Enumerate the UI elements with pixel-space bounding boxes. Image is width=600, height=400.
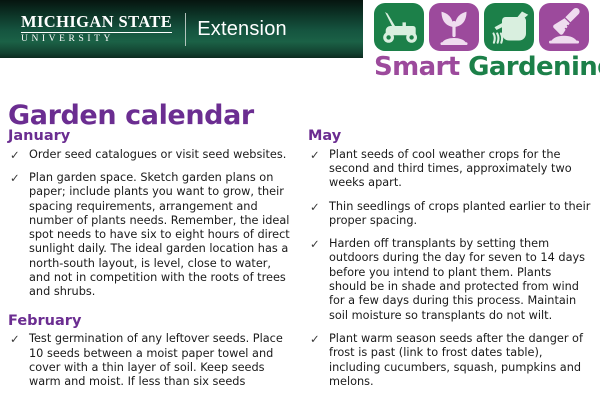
checkmark-icon: ✓ xyxy=(310,200,320,214)
calendar-columns: January✓Order seed catalogues or visit s… xyxy=(0,128,600,400)
task-list-february: ✓Test germination of any leftover seeds.… xyxy=(8,332,291,389)
seedling-icon xyxy=(429,3,479,51)
task-item: ✓Thin seedlings of crops planted earlier… xyxy=(308,200,591,229)
task-list-may: ✓Plant seeds of cool weather crops for t… xyxy=(308,148,591,389)
msu-unit-name: Extension xyxy=(197,19,287,39)
lawn-mower-tile xyxy=(374,3,424,51)
task-item: ✓Harden off transplants by setting them … xyxy=(308,237,591,323)
smart-gardening-word-gardening: Gardening xyxy=(468,52,600,82)
checkmark-icon: ✓ xyxy=(10,332,20,346)
checkmark-icon: ✓ xyxy=(310,332,320,346)
page-title: Garden calendar xyxy=(8,102,254,129)
msu-wordmark-line2: UNIVERSITY xyxy=(21,33,172,45)
month-heading-february: February xyxy=(8,313,291,330)
task-item: ✓Order seed catalogues or visit seed web… xyxy=(8,148,291,162)
msu-logo-divider xyxy=(185,13,186,46)
task-text: Test germination of any leftover seeds. … xyxy=(29,332,283,388)
task-text: Plan garden space. Sketch garden plans o… xyxy=(29,171,290,298)
lawn-mower-icon xyxy=(374,3,424,51)
smart-gardening-logo: Smart Gardening xyxy=(374,3,596,81)
task-text: Thin seedlings of crops planted earlier … xyxy=(329,200,590,227)
checkmark-icon: ✓ xyxy=(10,148,20,162)
seedling-tile xyxy=(429,3,479,51)
month-heading-january: January xyxy=(8,128,291,145)
checkmark-icon: ✓ xyxy=(310,237,320,251)
calendar-column-left: January✓Order seed catalogues or visit s… xyxy=(8,128,291,390)
watering-can-tile xyxy=(484,3,534,51)
checkmark-icon: ✓ xyxy=(310,148,320,162)
task-item: ✓Plant seeds of cool weather crops for t… xyxy=(308,148,591,191)
task-text: Plant warm season seeds after the danger… xyxy=(329,332,583,388)
calendar-column-right: May✓Plant seeds of cool weather crops fo… xyxy=(308,128,591,389)
msu-wordmark: MICHIGAN STATE UNIVERSITY xyxy=(21,14,172,44)
trowel-tile xyxy=(539,3,589,51)
task-item: ✓Plan garden space. Sketch garden plans … xyxy=(8,171,291,300)
task-text: Harden off transplants by setting them o… xyxy=(329,237,585,321)
checkmark-icon: ✓ xyxy=(10,171,20,185)
smart-gardening-wordmark: Smart Gardening xyxy=(374,54,596,81)
task-item: ✓Plant warm season seeds after the dange… xyxy=(308,332,591,389)
msu-logo: MICHIGAN STATE UNIVERSITY Extension xyxy=(21,11,287,47)
page-header: MICHIGAN STATE UNIVERSITY Extension xyxy=(0,0,600,60)
month-heading-may: May xyxy=(308,128,591,145)
smart-gardening-word-smart: Smart xyxy=(374,52,460,82)
trowel-icon xyxy=(539,3,589,51)
watering-can-icon xyxy=(484,3,534,51)
task-item: ✓Test germination of any leftover seeds.… xyxy=(8,332,291,389)
task-text: Plant seeds of cool weather crops for th… xyxy=(329,148,572,190)
smart-gardening-icon-tiles xyxy=(374,3,596,51)
garden-calendar-page: MICHIGAN STATE UNIVERSITY Extension xyxy=(0,0,600,400)
task-text: Order seed catalogues or visit seed webs… xyxy=(29,148,286,161)
msu-wordmark-line1: MICHIGAN STATE xyxy=(21,14,172,33)
task-list-january: ✓Order seed catalogues or visit seed web… xyxy=(8,148,291,300)
msu-extension-banner: MICHIGAN STATE UNIVERSITY Extension xyxy=(0,0,363,58)
